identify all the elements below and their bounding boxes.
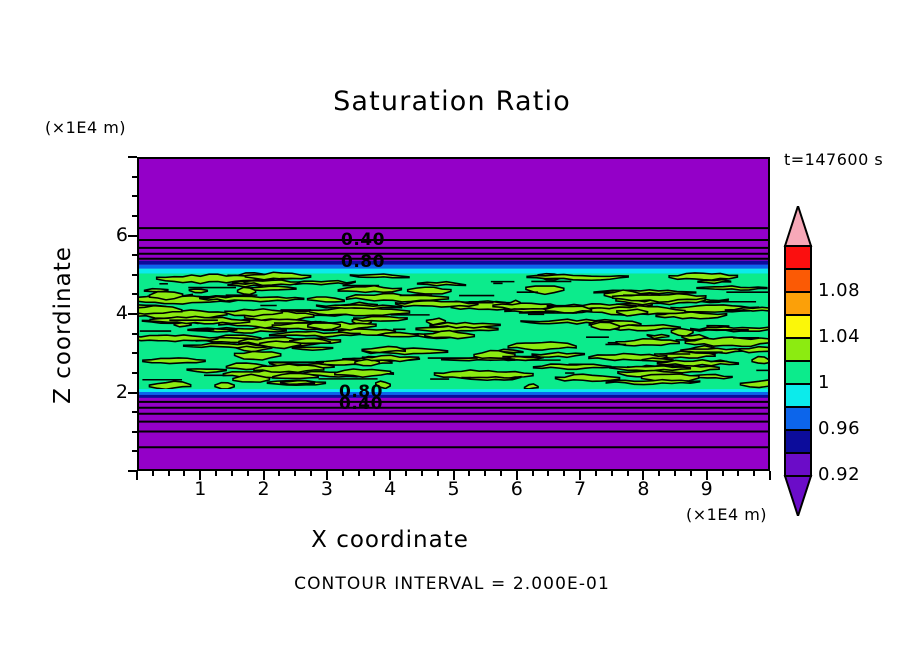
- contour-plot-area: [137, 157, 770, 471]
- colorbar-tick-label-1.08: 1.08: [818, 280, 860, 301]
- x-tick-mark: [136, 471, 138, 480]
- page-title: Saturation Ratio: [0, 86, 904, 117]
- y-tick-mark: [132, 431, 137, 433]
- colorbar-band: [785, 269, 811, 292]
- x-tick-mark: [753, 471, 755, 476]
- x-tick-mark: [342, 471, 344, 476]
- x-tick-mark: [437, 471, 439, 476]
- colorbar-tick-label-0.92: 0.92: [818, 464, 860, 485]
- x-tick-mark: [168, 471, 170, 476]
- x-tick-mark: [595, 471, 597, 476]
- y-tick-mark: [132, 215, 137, 217]
- y-tick-mark: [132, 333, 137, 335]
- contour-label: 0.40: [341, 230, 385, 250]
- y-tick-mark: [128, 156, 137, 158]
- y-tick-mark: [132, 352, 137, 354]
- y-tick-mark: [132, 195, 137, 197]
- x-tick-label-2: 2: [249, 478, 279, 500]
- x-tick-label-6: 6: [502, 478, 532, 500]
- x-tick-mark: [373, 471, 375, 476]
- contour-filament: [610, 366, 690, 371]
- x-tick-mark: [658, 471, 660, 476]
- x-tick-mark: [215, 471, 217, 476]
- x-tick-label-4: 4: [375, 478, 405, 500]
- contour-label: 0.40: [339, 394, 383, 414]
- x-tick-mark: [532, 471, 534, 476]
- contour-interval-note: CONTOUR INTERVAL = 2.000E-01: [0, 574, 904, 594]
- x-tick-mark: [769, 471, 771, 480]
- x-tick-mark: [468, 471, 470, 476]
- x-tick-label-3: 3: [312, 478, 342, 500]
- colorbar-band: [785, 430, 811, 453]
- y-tick-mark: [128, 470, 137, 472]
- colorbar-band: [785, 407, 811, 430]
- x-tick-label-7: 7: [565, 478, 595, 500]
- x-axis-title: X coordinate: [0, 527, 780, 553]
- x-tick-mark: [294, 471, 296, 476]
- colorbar-tick-label-1: 1: [818, 372, 830, 393]
- y-tick-mark: [128, 313, 137, 315]
- x-tick-label-9: 9: [692, 478, 722, 500]
- contour-filament: [189, 289, 207, 293]
- x-tick-mark: [674, 471, 676, 476]
- contour-label: 0.80: [341, 252, 385, 272]
- x-tick-mark: [183, 471, 185, 476]
- x-tick-mark: [563, 471, 565, 476]
- colorbar-band: [785, 246, 811, 269]
- colorbar: [783, 206, 813, 516]
- x-tick-mark: [484, 471, 486, 476]
- x-tick-mark: [421, 471, 423, 476]
- y-axis-title: Z coordinate: [50, 200, 76, 450]
- x-tick-mark: [627, 471, 629, 476]
- x-tick-label-8: 8: [628, 478, 658, 500]
- x-tick-mark: [310, 471, 312, 476]
- colorbar-tick-label-1.04: 1.04: [818, 326, 860, 347]
- colorbar-band: [785, 338, 811, 361]
- x-tick-mark: [358, 471, 360, 476]
- y-tick-mark: [132, 274, 137, 276]
- y-tick-mark: [132, 176, 137, 178]
- colorbar-band: [785, 384, 811, 407]
- x-tick-mark: [737, 471, 739, 476]
- y-tick-mark: [132, 254, 137, 256]
- y-axis-unit-label: (×1E4 m): [45, 118, 126, 137]
- x-tick-mark: [278, 471, 280, 476]
- y-tick-label-6: 6: [98, 224, 128, 246]
- colorbar-band: [785, 315, 811, 338]
- colorbar-band: [785, 453, 811, 476]
- x-tick-mark: [690, 471, 692, 476]
- colorbar-swatches: [783, 206, 813, 516]
- x-tick-mark: [152, 471, 154, 476]
- x-tick-label-5: 5: [439, 478, 469, 500]
- x-tick-mark: [405, 471, 407, 476]
- x-tick-mark: [547, 471, 549, 476]
- y-tick-label-4: 4: [98, 302, 128, 324]
- y-tick-mark: [132, 372, 137, 374]
- x-axis-unit-label: (×1E4 m): [686, 505, 767, 524]
- x-tick-mark: [722, 471, 724, 476]
- y-tick-mark: [132, 450, 137, 452]
- colorbar-band: [785, 361, 811, 384]
- x-tick-mark: [231, 471, 233, 476]
- y-tick-mark: [132, 293, 137, 295]
- x-tick-mark: [500, 471, 502, 476]
- contour-filament: [281, 381, 315, 385]
- y-tick-mark: [128, 392, 137, 394]
- colorbar-tick-label-0.96: 0.96: [818, 418, 860, 439]
- y-tick-mark: [128, 235, 137, 237]
- contour-filament: [697, 286, 767, 290]
- colorbar-band: [785, 292, 811, 315]
- contour-filament: [215, 383, 234, 389]
- y-tick-label-2: 2: [98, 381, 128, 403]
- contour-field: [139, 159, 768, 469]
- x-tick-label-1: 1: [185, 478, 215, 500]
- y-tick-mark: [132, 411, 137, 413]
- x-tick-mark: [247, 471, 249, 476]
- x-tick-mark: [611, 471, 613, 476]
- time-annotation: t=147600 s: [784, 150, 883, 169]
